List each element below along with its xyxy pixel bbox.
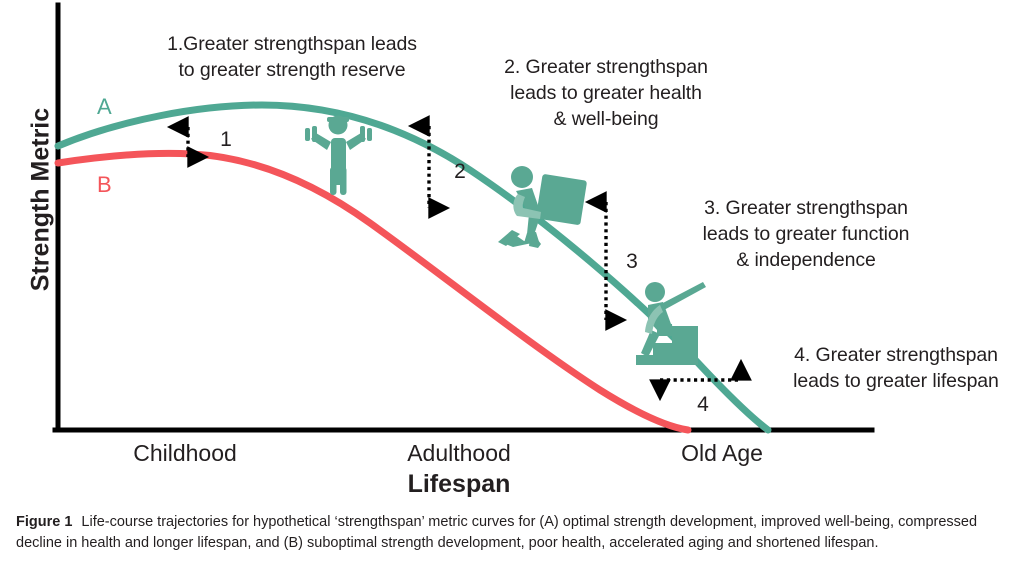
figure-caption: Figure 1Life-course trajectories for hyp… xyxy=(16,512,1008,554)
gap-arrow-1-label: 1 xyxy=(211,128,241,152)
gap-arrow-4-label: 4 xyxy=(688,393,718,417)
curve-b-suboptimal xyxy=(58,153,688,430)
person-lifting-weights-icon xyxy=(305,116,372,196)
person-with-cane-climbing-stairs-icon xyxy=(636,282,706,365)
plot-area: A B 1.Greater strengthspan leads to grea… xyxy=(0,0,1024,500)
person-carrying-box-icon xyxy=(498,166,587,248)
figure-caption-label: Figure 1 xyxy=(16,514,72,530)
y-axis-title: Strength Metric xyxy=(27,90,56,310)
gap-arrow-3-label: 3 xyxy=(617,250,647,274)
annotation-4-text: 4. Greater strengthspan leads to greater… xyxy=(768,343,1024,395)
curve-a-label: A xyxy=(97,94,112,120)
annotation-3-text: 3. Greater strengthspan leads to greater… xyxy=(672,196,940,274)
annotation-1-text: 1.Greater strengthspan leads to greater … xyxy=(122,32,462,84)
x-tick-old-age: Old Age xyxy=(612,440,832,467)
gap-arrow-2-label: 2 xyxy=(445,160,475,184)
x-tick-childhood: Childhood xyxy=(75,440,295,467)
figure-caption-text: Life-course trajectories for hypothetica… xyxy=(16,514,977,551)
figure-container: A B 1.Greater strengthspan leads to grea… xyxy=(0,0,1024,572)
annotation-2-text: 2. Greater strengthspan leads to greater… xyxy=(470,55,742,133)
curve-b-label: B xyxy=(97,172,112,198)
x-axis-title: Lifespan xyxy=(349,470,569,499)
x-tick-adulthood: Adulthood xyxy=(349,440,569,467)
